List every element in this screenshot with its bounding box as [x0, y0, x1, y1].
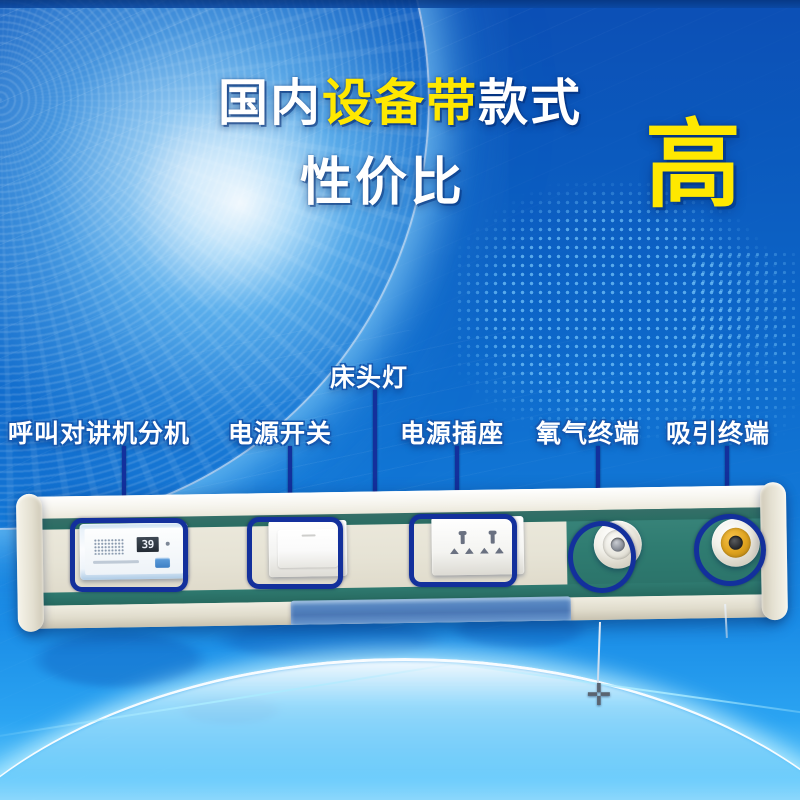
intercom-slot	[93, 560, 139, 564]
headline-line-2: 性价比	[300, 140, 465, 215]
socket-pin-left	[450, 548, 459, 554]
callout-label-suction-terminal: 吸引终端	[666, 414, 770, 450]
suction-terminal-port[interactable]	[729, 536, 743, 550]
headline-emphasis: 高	[645, 118, 741, 214]
callout-label-bed-lamp: 床头灯	[330, 358, 408, 394]
socket-pin-vertical	[461, 533, 465, 544]
promo-banner: 国内设备带款式 性价比 高 呼叫对讲机分机 电源开关 床头灯 电源插座 氧气终端…	[0, 0, 800, 800]
intercom-display: 39	[137, 537, 159, 552]
power-socket[interactable]	[431, 516, 524, 575]
socket-pin-vertical	[491, 533, 495, 544]
pull-cord-tip-icon[interactable]: ✛	[585, 682, 613, 710]
panel-endcap-left	[16, 494, 44, 632]
bed-head-unit: 39	[21, 485, 783, 629]
suction-terminal-ring	[721, 528, 751, 558]
socket-outlet-right[interactable]	[478, 532, 508, 558]
oxygen-terminal-ring	[603, 529, 633, 559]
callout-label-oxygen-terminal: 氧气终端	[536, 414, 640, 450]
socket-pin-left	[480, 548, 489, 554]
panel-endcap-right	[760, 482, 788, 620]
top-edge-band	[0, 0, 800, 8]
status-led-icon	[166, 542, 170, 546]
panel-body: 39	[21, 485, 783, 629]
intercom-faceplate: 39	[84, 527, 183, 575]
socket-pin-right	[465, 548, 474, 554]
callout-label-power-socket: 电源插座	[400, 414, 504, 450]
nurse-call-intercom[interactable]: 39	[79, 522, 188, 580]
power-switch[interactable]	[268, 520, 347, 577]
socket-outlet-left[interactable]	[448, 533, 478, 559]
speaker-grille-icon	[94, 538, 124, 554]
switch-mark	[302, 534, 316, 536]
switch-rocker[interactable]	[278, 529, 339, 568]
callout-label-power-switch: 电源开关	[228, 414, 332, 450]
intercom-call-button[interactable]	[155, 558, 170, 568]
headline-row-2: 性价比 高	[0, 60, 800, 170]
callout-label-intercom: 呼叫对讲机分机	[8, 414, 190, 450]
oxygen-terminal-port[interactable]	[611, 538, 625, 552]
socket-pin-right	[495, 547, 504, 553]
